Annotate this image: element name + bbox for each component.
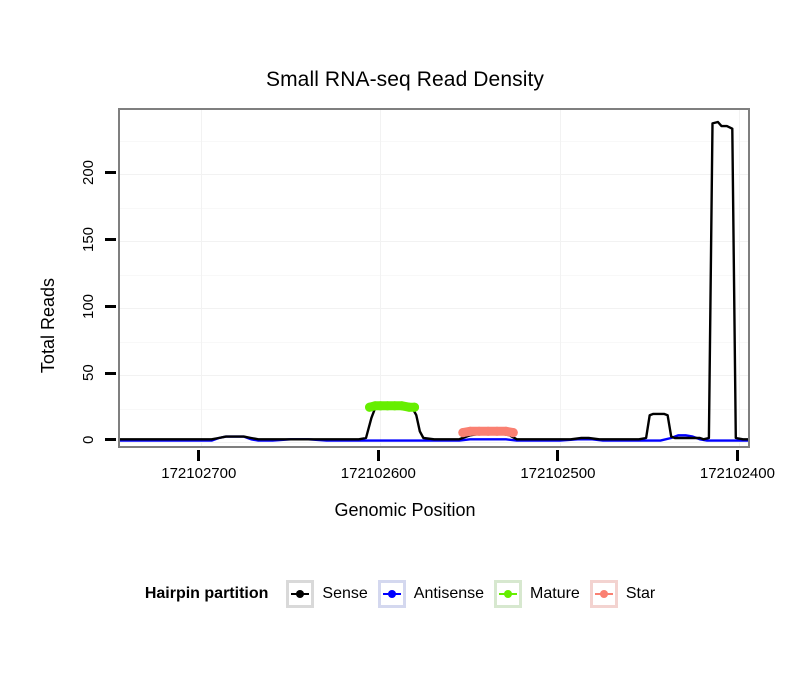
legend-title: Hairpin partition bbox=[145, 585, 269, 603]
y-tick-label: 200 bbox=[80, 150, 98, 194]
legend-item-mature[interactable]: Mature bbox=[494, 580, 580, 608]
legend-key-icon bbox=[494, 580, 522, 608]
legend-item-antisense[interactable]: Antisense bbox=[378, 580, 484, 608]
chart-root: Small RNA-seq Read Density Total Reads 0… bbox=[0, 0, 810, 690]
y-tick-mark bbox=[105, 305, 116, 308]
legend-key-icon bbox=[378, 580, 406, 608]
x-tick-mark bbox=[556, 450, 559, 461]
legend-item-star[interactable]: Star bbox=[590, 580, 655, 608]
y-tick-label: 0 bbox=[80, 418, 98, 462]
legend-label: Star bbox=[626, 585, 655, 603]
legend-key-icon bbox=[286, 580, 314, 608]
legend-key-icon bbox=[590, 580, 618, 608]
plot-panel bbox=[118, 108, 750, 448]
y-tick-label: 150 bbox=[80, 217, 98, 261]
series-point-star bbox=[466, 427, 475, 436]
y-tick-mark bbox=[105, 238, 116, 241]
y-tick-label: 100 bbox=[80, 284, 98, 328]
legend-key-dot bbox=[504, 590, 512, 598]
x-tick-label: 172102600 bbox=[341, 465, 416, 482]
legend-label: Sense bbox=[322, 585, 367, 603]
y-axis-title: Total Reads bbox=[38, 278, 59, 373]
legend-item-sense[interactable]: Sense bbox=[286, 580, 367, 608]
series-point-star bbox=[509, 428, 518, 437]
x-tick-mark bbox=[377, 450, 380, 461]
legend-key-dot bbox=[600, 590, 608, 598]
chart-title: Small RNA-seq Read Density bbox=[0, 68, 810, 92]
y-tick-label: 50 bbox=[80, 351, 98, 395]
x-tick-mark bbox=[736, 450, 739, 461]
series-point-star bbox=[475, 427, 484, 436]
x-tick-label: 172102500 bbox=[520, 465, 595, 482]
x-tick-label: 172102400 bbox=[700, 465, 775, 482]
series-line-sense bbox=[120, 122, 748, 439]
legend-label: Antisense bbox=[414, 585, 484, 603]
legend-label: Mature bbox=[530, 585, 580, 603]
x-tick-label: 172102700 bbox=[161, 465, 236, 482]
series-point-star bbox=[484, 427, 493, 436]
x-tick-mark bbox=[197, 450, 200, 461]
legend: Hairpin partition SenseAntisenseMatureSt… bbox=[0, 580, 810, 608]
y-tick-mark bbox=[105, 171, 116, 174]
y-tick-mark bbox=[105, 438, 116, 441]
x-axis-title: Genomic Position bbox=[0, 500, 810, 521]
plot-area bbox=[120, 110, 748, 446]
series-point-star bbox=[492, 427, 501, 436]
legend-key-dot bbox=[388, 590, 396, 598]
series-point-mature bbox=[410, 403, 419, 412]
y-tick-mark bbox=[105, 372, 116, 375]
legend-key-dot bbox=[296, 590, 304, 598]
series-container bbox=[120, 110, 748, 446]
